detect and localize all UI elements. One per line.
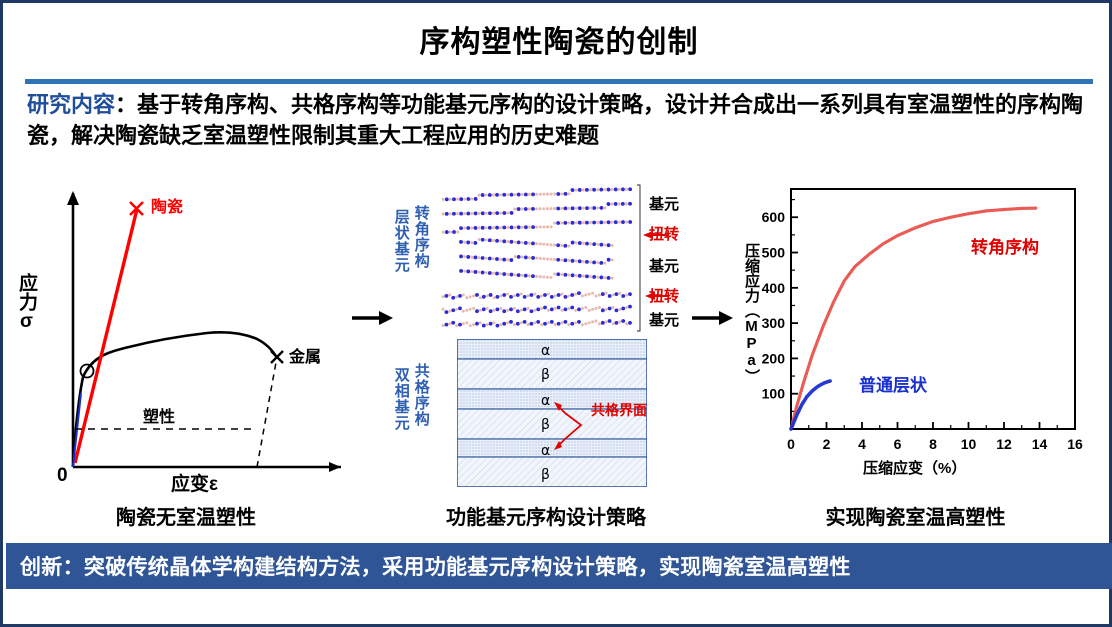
twist-arrows-svg bbox=[635, 183, 681, 333]
coherent-interface-label: 共格界面 bbox=[591, 403, 647, 418]
left-chart-x-axis-label: 应变ε bbox=[171, 469, 218, 496]
stress-strain-schematic-svg bbox=[21, 181, 351, 491]
intro-paragraph: 研究内容：基于转角序构、共格序构等功能基元序构的设计策略，设计并合成出一系列具有… bbox=[27, 89, 1093, 151]
left-chart-y-axis-label: 应力σ bbox=[13, 273, 40, 332]
x-tick-label: 6 bbox=[894, 436, 902, 452]
plasticity-annotation: 塑性 bbox=[143, 403, 175, 427]
alpha-layer-label-3: α bbox=[541, 443, 550, 459]
series-label-normal: 普通层状 bbox=[859, 371, 927, 396]
biphase-motif-vertical-label: 双相基元 bbox=[393, 367, 409, 431]
left-chart-origin-label: 0 bbox=[57, 465, 68, 487]
y-tick-label: 100 bbox=[762, 386, 786, 402]
x-tick-label: 4 bbox=[858, 436, 866, 452]
caption-right: 实现陶瓷室温高塑性 bbox=[743, 501, 1088, 530]
coherent-order-vertical-label: 共格序构 bbox=[413, 363, 429, 427]
intro-lead-label: 研究内容 bbox=[27, 92, 115, 117]
plot-frame bbox=[791, 189, 1075, 429]
ceramic-curve-label: 陶瓷 bbox=[151, 193, 183, 217]
x-tick-label: 14 bbox=[1032, 436, 1048, 452]
y-tick-label: 300 bbox=[762, 315, 786, 331]
x-tick-label: 0 bbox=[787, 436, 795, 452]
right-compression-chart: 1002003004005006000246810121416 压缩应力（MPa… bbox=[743, 181, 1088, 491]
beta-layer-label-2: β bbox=[541, 417, 550, 433]
middle-design-strategy-panel: 层状基元 转角序构 基元 扭转 基元 扭转 基元 双相基元 共格序构 bbox=[391, 181, 701, 491]
y-tick-label: 500 bbox=[762, 245, 786, 261]
x-tick-label: 10 bbox=[961, 436, 977, 452]
caption-left: 陶瓷无室温塑性 bbox=[21, 501, 351, 530]
slide-root: 序构塑性陶瓷的创制 研究内容：基于转角序构、共格序构等功能基元序构的设计策略，设… bbox=[0, 0, 1112, 627]
beta-layer-label-3: β bbox=[541, 467, 550, 483]
twist-order-vertical-label: 转角序构 bbox=[413, 205, 429, 269]
x-tick-label: 12 bbox=[996, 436, 1012, 452]
caption-middle: 功能基元序构设计策略 bbox=[391, 501, 701, 530]
y-tick-label: 400 bbox=[762, 280, 786, 296]
alpha-layer-label-2: α bbox=[541, 393, 550, 409]
metal-curve-label: 金属 bbox=[289, 343, 321, 367]
intro-body: 基于转角序构、共格序构等功能基元序构的设计策略，设计并合成出一系列具有室温塑性的… bbox=[27, 92, 1083, 148]
chart-x-axis-label: 压缩应变（%） bbox=[863, 457, 966, 478]
arrow-middle-to-right bbox=[691, 305, 735, 336]
series-label-twisted: 转角序构 bbox=[971, 233, 1039, 258]
atomic-layer-stack-svg bbox=[439, 183, 649, 333]
innovation-banner-text: 创新：突破传统晶体学构建结构方法，采用功能基元序构设计策略，实现陶瓷室温高塑性 bbox=[6, 551, 851, 581]
alpha-layer-label-1: α bbox=[541, 343, 550, 359]
x-tick-label: 16 bbox=[1067, 436, 1083, 452]
page-title: 序构塑性陶瓷的创制 bbox=[3, 17, 1112, 61]
arrow-left-to-middle bbox=[351, 305, 395, 336]
y-tick-label: 200 bbox=[762, 350, 786, 366]
ceramic-curve bbox=[75, 209, 137, 463]
y-tick-label: 600 bbox=[762, 209, 786, 225]
x-tick-label: 2 bbox=[823, 436, 831, 452]
y-axis-arrowhead bbox=[67, 191, 79, 205]
beta-layer-label-1: β bbox=[541, 367, 550, 383]
chart-y-axis-label: 压缩应力（MPa） bbox=[741, 243, 762, 384]
unloading-dashed-line bbox=[257, 357, 277, 467]
intro-colon: ： bbox=[115, 92, 137, 117]
x-tick-label: 8 bbox=[929, 436, 937, 452]
innovation-banner: 创新：突破传统晶体学构建结构方法，采用功能基元序构设计策略，实现陶瓷室温高塑性 bbox=[6, 543, 1112, 589]
x-axis-arrowhead bbox=[329, 462, 341, 472]
title-divider bbox=[25, 79, 1093, 84]
left-schematic-chart: 应力σ 应变ε 0 陶瓷 金属 塑性 bbox=[21, 181, 351, 491]
layered-motif-vertical-label: 层状基元 bbox=[393, 209, 409, 273]
compression-stress-strain-chart-svg: 1002003004005006000246810121416 bbox=[743, 181, 1088, 481]
